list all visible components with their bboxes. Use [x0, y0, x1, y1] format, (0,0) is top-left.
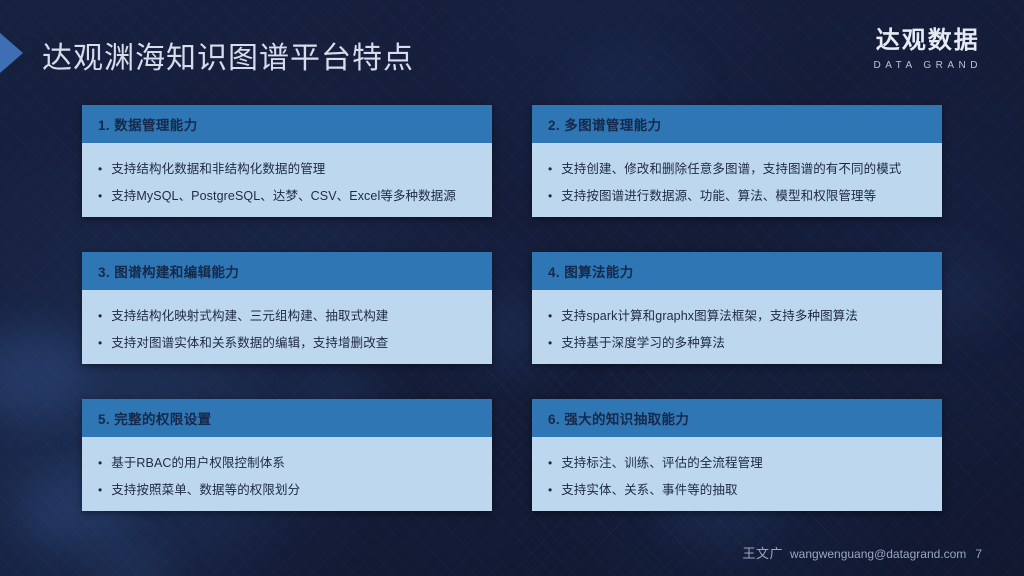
bullet-text: 支持spark计算和graphx图算法框架，支持多种图算法 — [561, 307, 858, 326]
bullet-text: 支持按照菜单、数据等的权限划分 — [111, 481, 300, 500]
footer-email: wangwenguang@datagrand.com — [790, 547, 966, 561]
feature-card-header: 6. 强大的知识抽取能力 — [532, 399, 942, 437]
bullet-marker-icon: • — [98, 454, 102, 473]
bullet-text: 支持创建、修改和删除任意多图谱，支持图谱的有不同的模式 — [561, 160, 901, 179]
bullet-item: • 支持spark计算和graphx图算法框架，支持多种图算法 — [548, 307, 928, 326]
bullet-marker-icon: • — [98, 160, 102, 179]
feature-card-title: 3. 图谱构建和编辑能力 — [98, 261, 239, 281]
feature-card-body: • 支持结构化数据和非结构化数据的管理 • 支持MySQL、PostgreSQL… — [82, 143, 492, 217]
slide: 达观渊海知识图谱平台特点 达观数据 DATA GRAND 1. 数据管理能力 •… — [0, 0, 1024, 576]
bullet-text: 支持实体、关系、事件等的抽取 — [561, 481, 737, 500]
feature-card-body: • 支持创建、修改和删除任意多图谱，支持图谱的有不同的模式 • 支持按图谱进行数… — [532, 143, 942, 217]
feature-card[interactable]: 2. 多图谱管理能力 • 支持创建、修改和删除任意多图谱，支持图谱的有不同的模式… — [532, 105, 942, 217]
bullet-item: • 支持按图谱进行数据源、功能、算法、模型和权限管理等 — [548, 187, 928, 206]
feature-card[interactable]: 4. 图算法能力 • 支持spark计算和graphx图算法框架，支持多种图算法… — [532, 252, 942, 364]
feature-card-header: 5. 完整的权限设置 — [82, 399, 492, 437]
feature-card-title: 2. 多图谱管理能力 — [548, 114, 662, 134]
brand-logo: 达观数据 DATA GRAND — [873, 28, 982, 71]
bullet-marker-icon: • — [548, 334, 552, 353]
logo-text-en: DATA GRAND — [873, 60, 982, 71]
feature-card[interactable]: 6. 强大的知识抽取能力 • 支持标注、训练、评估的全流程管理 • 支持实体、关… — [532, 399, 942, 511]
feature-card-title: 1. 数据管理能力 — [98, 114, 198, 134]
bullet-item: • 支持结构化数据和非结构化数据的管理 — [98, 160, 478, 179]
bullet-marker-icon: • — [548, 481, 552, 500]
triangle-right-icon — [0, 33, 23, 73]
bokeh-blob — [90, 540, 170, 576]
feature-card-grid: 1. 数据管理能力 • 支持结构化数据和非结构化数据的管理 • 支持MySQL、… — [82, 105, 942, 511]
bullet-marker-icon: • — [98, 307, 102, 326]
feature-card-body: • 支持结构化映射式构建、三元组构建、抽取式构建 • 支持对图谱实体和关系数据的… — [82, 290, 492, 364]
bullet-text: 支持标注、训练、评估的全流程管理 — [561, 454, 763, 473]
feature-card[interactable]: 3. 图谱构建和编辑能力 • 支持结构化映射式构建、三元组构建、抽取式构建 • … — [82, 252, 492, 364]
bullet-marker-icon: • — [548, 187, 552, 206]
page-number: 7 — [975, 547, 982, 561]
bullet-text: 支持MySQL、PostgreSQL、达梦、CSV、Excel等多种数据源 — [111, 187, 456, 206]
slide-footer: 王文广 wangwenguang@datagrand.com 7 — [742, 543, 982, 562]
bullet-text: 支持基于深度学习的多种算法 — [561, 334, 725, 353]
feature-card-body: • 支持标注、训练、评估的全流程管理 • 支持实体、关系、事件等的抽取 — [532, 437, 942, 511]
bullet-text: 支持对图谱实体和关系数据的编辑，支持增删改查 — [111, 334, 388, 353]
feature-card-header: 2. 多图谱管理能力 — [532, 105, 942, 143]
feature-card-header: 4. 图算法能力 — [532, 252, 942, 290]
bullet-item: • 支持按照菜单、数据等的权限划分 — [98, 481, 478, 500]
bullet-text: 基于RBAC的用户权限控制体系 — [111, 454, 285, 473]
bullet-text: 支持按图谱进行数据源、功能、算法、模型和权限管理等 — [561, 187, 876, 206]
bullet-marker-icon: • — [548, 307, 552, 326]
feature-card[interactable]: 5. 完整的权限设置 • 基于RBAC的用户权限控制体系 • 支持按照菜单、数据… — [82, 399, 492, 511]
bullet-item: • 支持创建、修改和删除任意多图谱，支持图谱的有不同的模式 — [548, 160, 928, 179]
feature-card[interactable]: 1. 数据管理能力 • 支持结构化数据和非结构化数据的管理 • 支持MySQL、… — [82, 105, 492, 217]
feature-card-header: 1. 数据管理能力 — [82, 105, 492, 143]
bullet-marker-icon: • — [548, 160, 552, 179]
logo-text-cn: 达观数据 — [873, 28, 982, 54]
feature-card-title: 4. 图算法能力 — [548, 261, 634, 281]
bullet-item: • 支持基于深度学习的多种算法 — [548, 334, 928, 353]
bullet-item: • 支持标注、训练、评估的全流程管理 — [548, 454, 928, 473]
bullet-item: • 支持实体、关系、事件等的抽取 — [548, 481, 928, 500]
bullet-text: 支持结构化数据和非结构化数据的管理 — [111, 160, 325, 179]
feature-card-body: • 支持spark计算和graphx图算法框架，支持多种图算法 • 支持基于深度… — [532, 290, 942, 364]
bullet-marker-icon: • — [98, 334, 102, 353]
bokeh-blob — [0, 330, 90, 420]
bullet-item: • 支持MySQL、PostgreSQL、达梦、CSV、Excel等多种数据源 — [98, 187, 478, 206]
bullet-marker-icon: • — [98, 187, 102, 206]
feature-card-title: 5. 完整的权限设置 — [98, 408, 212, 428]
bullet-item: • 支持对图谱实体和关系数据的编辑，支持增删改查 — [98, 334, 478, 353]
page-title: 达观渊海知识图谱平台特点 — [42, 33, 414, 77]
feature-card-header: 3. 图谱构建和编辑能力 — [82, 252, 492, 290]
bullet-item: • 基于RBAC的用户权限控制体系 — [98, 454, 478, 473]
bullet-text: 支持结构化映射式构建、三元组构建、抽取式构建 — [111, 307, 388, 326]
feature-card-title: 6. 强大的知识抽取能力 — [548, 408, 689, 428]
footer-author: 王文广 — [742, 543, 783, 562]
bullet-item: • 支持结构化映射式构建、三元组构建、抽取式构建 — [98, 307, 478, 326]
feature-card-body: • 基于RBAC的用户权限控制体系 • 支持按照菜单、数据等的权限划分 — [82, 437, 492, 511]
bullet-marker-icon: • — [548, 454, 552, 473]
bullet-marker-icon: • — [98, 481, 102, 500]
